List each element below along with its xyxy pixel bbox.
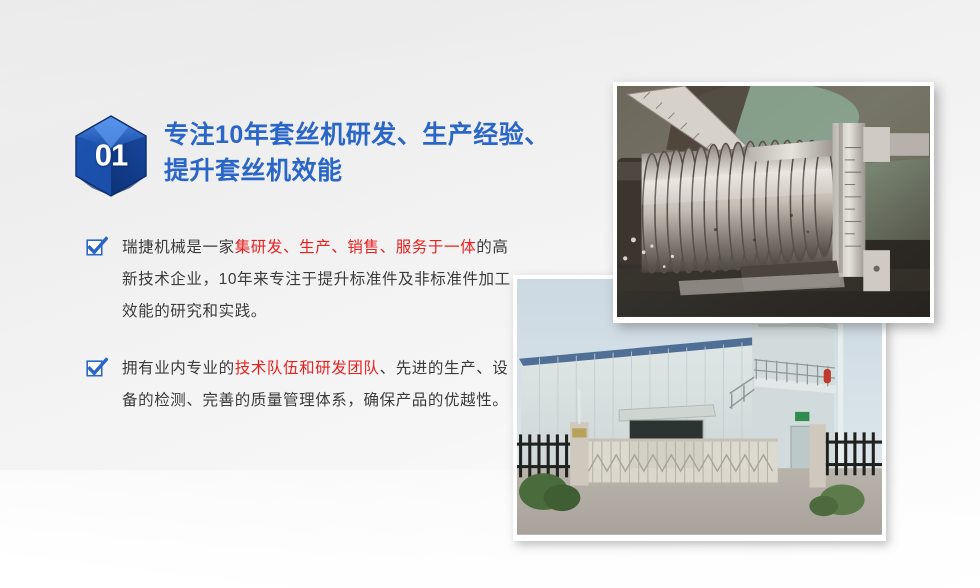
threaded-rod-illustration (617, 86, 930, 317)
threaded-rod-photo (613, 82, 934, 323)
bullet-2-seg-0: 拥有业内专业的 (122, 360, 235, 377)
bullet-text-2: 拥有业内专业的技术队伍和研发团队、先进的生产、设备的检测、完善的质量管理体系，确… (122, 353, 522, 417)
heading-row: 01 专注10年套丝机研发、生产经验、 提升套丝机效能 (72, 112, 542, 198)
promo-banner: 01 专注10年套丝机研发、生产经验、 提升套丝机效能 瑞捷机械是一家集研发、生… (0, 0, 980, 588)
checkbox-checked-icon (86, 357, 108, 379)
bullet-1-seg-1: 集研发、生产、销售、服务于一体 (235, 239, 477, 256)
bullet-2-seg-1: 技术队伍和研发团队 (235, 360, 380, 377)
bullet-text-1: 瑞捷机械是一家集研发、生产、销售、服务于一体的高新技术企业，10年来专注于提升标… (122, 232, 522, 327)
heading-line-1: 专注10年套丝机研发、生产经验、 (164, 118, 550, 154)
list-item: 拥有业内专业的技术队伍和研发团队、先进的生产、设备的检测、完善的质量管理体系，确… (86, 353, 542, 417)
checkbox-checked-icon (86, 236, 108, 258)
list-item: 瑞捷机械是一家集研发、生产、销售、服务于一体的高新技术企业，10年来专注于提升标… (86, 232, 542, 327)
content-column: 01 专注10年套丝机研发、生产经验、 提升套丝机效能 瑞捷机械是一家集研发、生… (72, 112, 542, 443)
step-badge: 01 (72, 114, 150, 198)
bullet-1-seg-0: 瑞捷机械是一家 (122, 239, 235, 256)
heading-block: 专注10年套丝机研发、生产经验、 提升套丝机效能 (164, 112, 550, 189)
step-badge-number: 01 (72, 137, 150, 173)
bullet-list: 瑞捷机械是一家集研发、生产、销售、服务于一体的高新技术企业，10年来专注于提升标… (72, 232, 542, 417)
heading-line-2: 提升套丝机效能 (164, 154, 550, 190)
